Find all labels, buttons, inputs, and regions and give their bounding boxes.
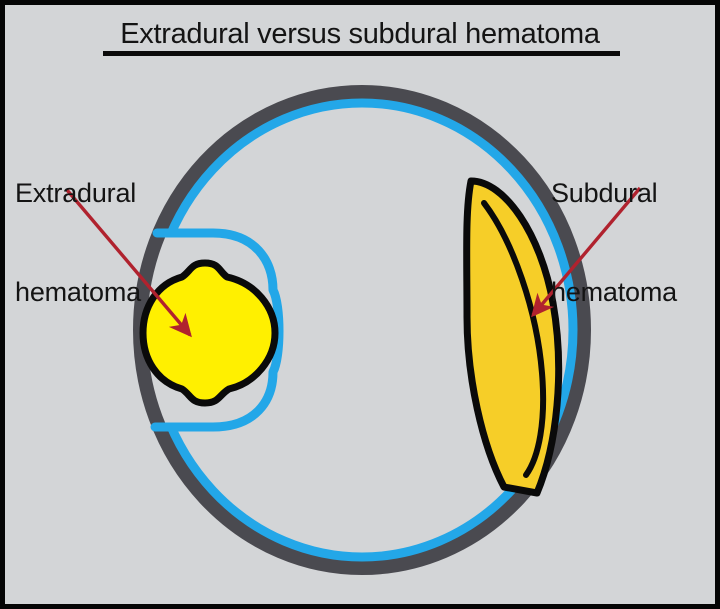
- label-extradural-line-2: hematoma: [15, 276, 141, 309]
- label-extradural-hematoma: Extradural hematoma: [15, 111, 141, 375]
- label-extradural-line-1: Extradural: [15, 177, 141, 210]
- diagram-canvas: Extradural versus subdural hematoma: [0, 0, 720, 609]
- label-subdural-line-1: Subdural: [551, 177, 677, 210]
- label-subdural-hematoma: Subdural hematoma: [551, 111, 677, 375]
- label-subdural-line-2: hematoma: [551, 276, 677, 309]
